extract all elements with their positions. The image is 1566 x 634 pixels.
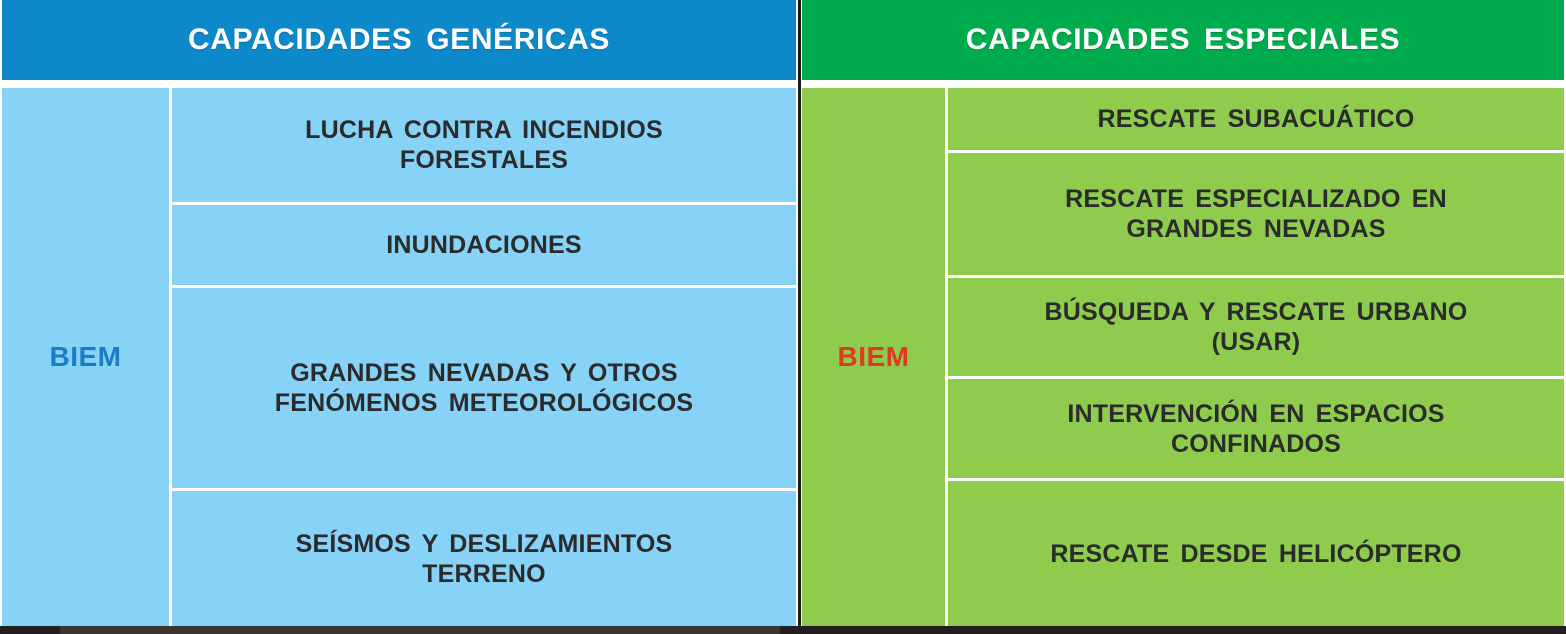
generic-capabilities-header: CAPACIDADES GENÉRICAS <box>2 0 796 80</box>
table-row: INUNDACIONES <box>172 205 796 285</box>
special-capabilities-header: CAPACIDADES ESPECIALES <box>802 0 1564 80</box>
table-row: SEÍSMOS Y DESLIZAMIENTOS TERRENO <box>172 491 796 626</box>
generic-capabilities-rows: LUCHA CONTRA INCENDIOS FORESTALES INUNDA… <box>172 88 796 626</box>
capability-label: RESCATE ESPECIALIZADO EN GRANDES NEVADAS <box>1065 184 1447 244</box>
capability-label: RESCATE DESDE HELICÓPTERO <box>1050 539 1461 569</box>
capability-label: INTERVENCIÓN EN ESPACIOS CONFINADOS <box>1067 399 1444 459</box>
capability-label: SEÍSMOS Y DESLIZAMIENTOS TERRENO <box>296 529 673 589</box>
generic-capabilities-table: CAPACIDADES GENÉRICAS BIEM LUCHA CONTRA … <box>2 0 796 626</box>
table-row: RESCATE SUBACUÁTICO <box>948 88 1564 150</box>
capability-label: BÚSQUEDA Y RESCATE URBANO (USAR) <box>1044 297 1467 357</box>
bottom-edge-strip <box>0 626 1566 634</box>
generic-biem-label: BIEM <box>50 341 122 373</box>
special-biem-group-cell: BIEM <box>802 88 945 626</box>
generic-biem-group-cell: BIEM <box>2 88 169 626</box>
capability-label: LUCHA CONTRA INCENDIOS FORESTALES <box>305 115 663 175</box>
special-capabilities-header-title: CAPACIDADES ESPECIALES <box>966 23 1400 57</box>
generic-capabilities-header-title: CAPACIDADES GENÉRICAS <box>188 23 610 57</box>
table-row: RESCATE DESDE HELICÓPTERO <box>948 481 1564 626</box>
bottom-edge-shade <box>60 626 780 634</box>
table-row: GRANDES NEVADAS Y OTROS FENÓMENOS METEOR… <box>172 288 796 488</box>
table-row: INTERVENCIÓN EN ESPACIOS CONFINADOS <box>948 379 1564 478</box>
table-row: RESCATE ESPECIALIZADO EN GRANDES NEVADAS <box>948 153 1564 275</box>
table-row: BÚSQUEDA Y RESCATE URBANO (USAR) <box>948 278 1564 376</box>
capability-label: RESCATE SUBACUÁTICO <box>1097 104 1414 134</box>
capability-label: INUNDACIONES <box>386 230 581 260</box>
capabilities-comparison-slide: CAPACIDADES GENÉRICAS BIEM LUCHA CONTRA … <box>0 0 1566 634</box>
special-biem-label: BIEM <box>838 341 910 373</box>
special-capabilities-rows: RESCATE SUBACUÁTICO RESCATE ESPECIALIZAD… <box>948 88 1564 626</box>
table-row: LUCHA CONTRA INCENDIOS FORESTALES <box>172 88 796 202</box>
special-capabilities-body: BIEM RESCATE SUBACUÁTICO RESCATE ESPECIA… <box>802 88 1564 626</box>
capability-label: GRANDES NEVADAS Y OTROS FENÓMENOS METEOR… <box>275 358 694 418</box>
generic-capabilities-body: BIEM LUCHA CONTRA INCENDIOS FORESTALES I… <box>2 88 796 626</box>
tables-divider <box>798 0 801 634</box>
special-capabilities-table: CAPACIDADES ESPECIALES BIEM RESCATE SUBA… <box>802 0 1564 626</box>
